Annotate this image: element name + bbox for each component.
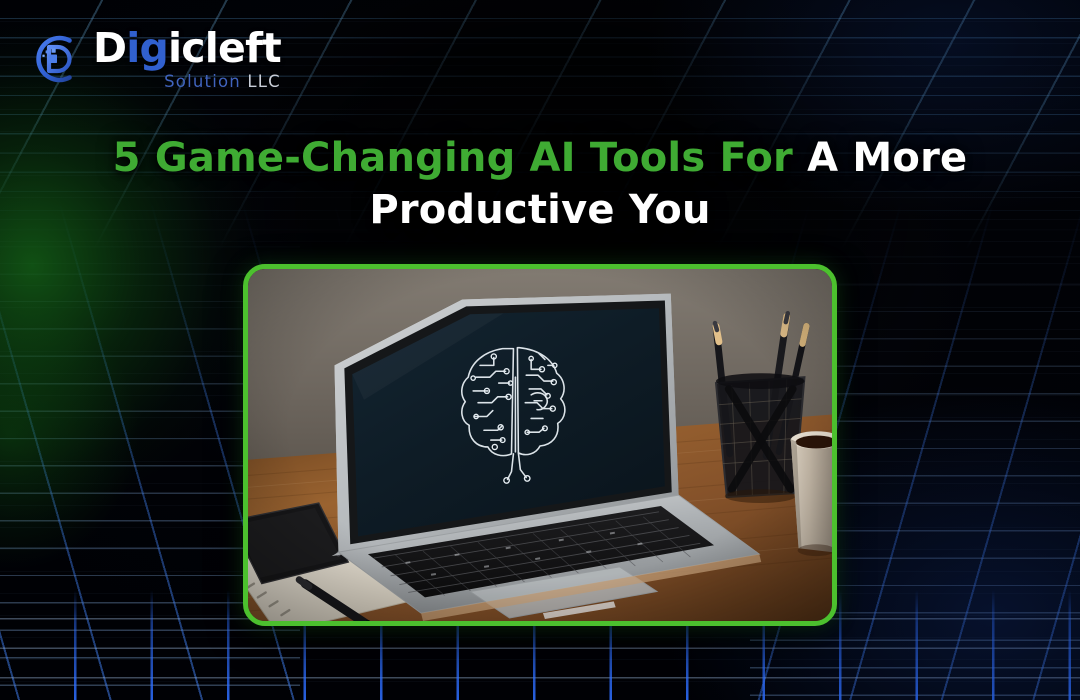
brand-name-ig: ig (126, 24, 168, 72)
headline-white-text: A More (793, 135, 967, 181)
digicleft-logo-icon (27, 31, 83, 87)
brand-logo[interactable]: Digicleft Solution LLC (27, 28, 281, 91)
brand-tagline-llc: LLC (247, 72, 281, 91)
promotional-banner: Digicleft Solution LLC 5 Game-Changing A… (0, 0, 1080, 700)
brand-tagline-solution: Solution (164, 72, 241, 91)
featured-image-card (243, 264, 837, 626)
headline-green-text: 5 Game-Changing AI Tools For (113, 135, 793, 181)
brand-name: Digicleft (93, 28, 281, 69)
headline: 5 Game-Changing AI Tools For A More Prod… (0, 132, 1080, 236)
brand-name-icleft: icleft (168, 24, 281, 72)
laptop-desk-photo (248, 269, 832, 621)
brand-name-d: D (93, 24, 126, 72)
brand-tagline: Solution LLC (93, 74, 281, 91)
brand-logo-wordmark: Digicleft Solution LLC (93, 28, 281, 91)
headline-line-1: 5 Game-Changing AI Tools For A More (0, 132, 1080, 184)
headline-line-2: Productive You (0, 184, 1080, 236)
